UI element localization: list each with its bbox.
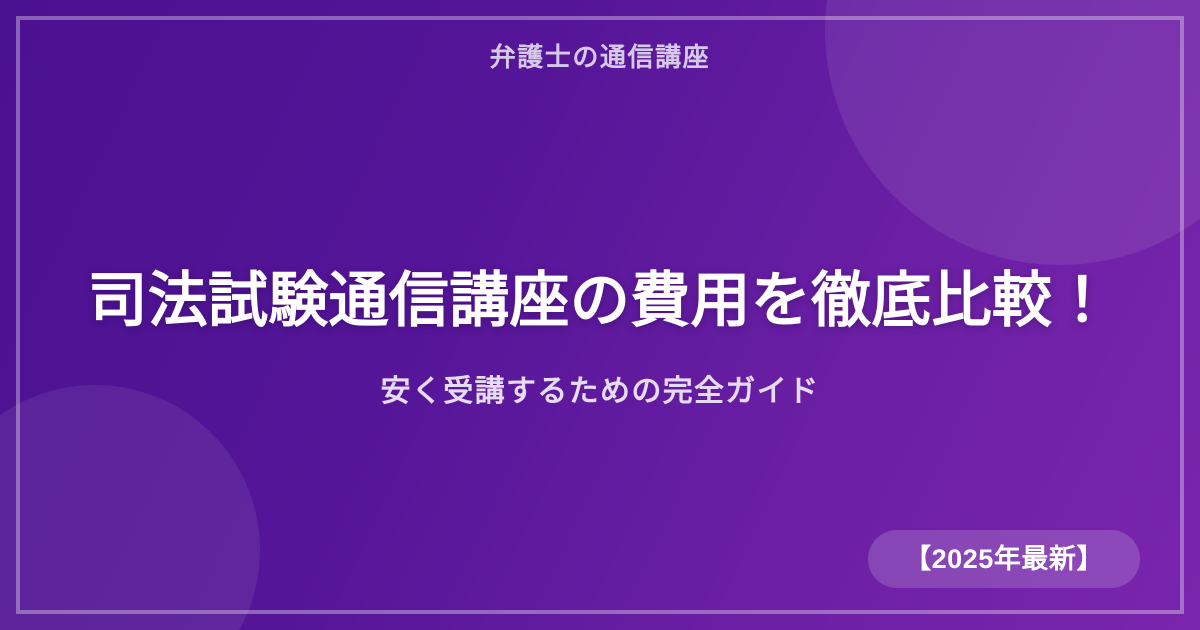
page-title: 司法試験通信講座の費用を徹底比較！ xyxy=(87,266,1112,337)
status-badge: 【2025年最新】 xyxy=(868,530,1140,588)
ogp-banner: 弁護士の通信講座 司法試験通信講座の費用を徹底比較！ 安く受講するための完全ガイ… xyxy=(0,0,1200,630)
page-subtitle: 安く受講するための完全ガイド xyxy=(381,372,820,411)
